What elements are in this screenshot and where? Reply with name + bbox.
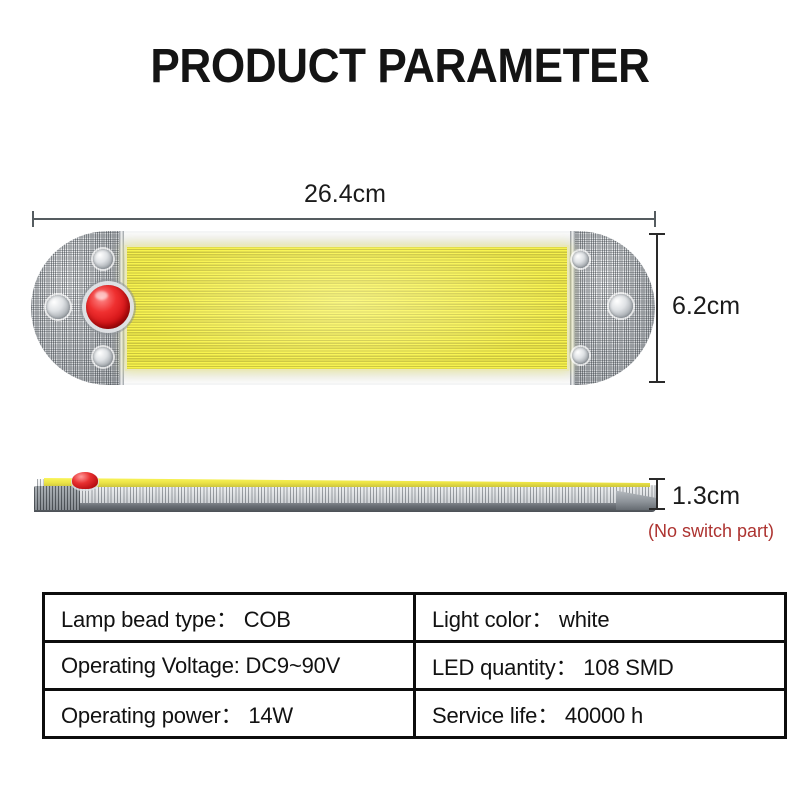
spec-cell-operating-voltage: Operating Voltage: DC9~90V [44, 642, 415, 690]
spec-cell-light-color: Light color： white [415, 594, 786, 642]
screw-hole-icon [572, 347, 589, 364]
spec-cell-service-life: Service life： 40000 h [415, 690, 786, 738]
thickness-note: (No switch part) [648, 521, 774, 542]
product-top-view [31, 231, 655, 385]
lamp-housing [31, 231, 655, 385]
dimension-height-label: 6.2cm [672, 292, 740, 321]
spec-cell-led-quantity: LED quantity： 108 SMD [415, 642, 786, 690]
spec-cell-lamp-bead-type: Lamp bead type： COB [44, 594, 415, 642]
dimension-width-line [32, 218, 656, 220]
screw-hole-icon [46, 295, 70, 319]
dimension-width-label: 26.4cm [0, 180, 690, 209]
screw-hole-icon [572, 251, 589, 268]
dimension-thickness-label: 1.3cm [672, 482, 740, 511]
dimension-height-line [656, 233, 658, 383]
screw-hole-icon [93, 249, 113, 269]
side-cob-strip [44, 478, 650, 487]
table-row: Operating Voltage: DC9~90V LED quantity：… [44, 642, 786, 690]
screw-hole-icon [609, 294, 633, 318]
product-side-view [34, 472, 656, 512]
side-left-endcap [34, 486, 80, 510]
red-power-switch-icon [72, 472, 98, 489]
spec-cell-operating-power: Operating power： 14W [44, 690, 415, 738]
screw-hole-icon [93, 347, 113, 367]
cob-led-panel-icon [125, 245, 569, 371]
spec-table: Lamp bead type： COB Light color： white O… [42, 592, 787, 739]
red-power-switch-icon [86, 285, 130, 329]
table-row: Lamp bead type： COB Light color： white [44, 594, 786, 642]
cob-glow [125, 245, 569, 371]
dimension-thickness-line [656, 478, 658, 510]
page-title: PRODUCT PARAMETER [32, 42, 768, 92]
table-row: Operating power： 14W Service life： 40000… [44, 690, 786, 738]
